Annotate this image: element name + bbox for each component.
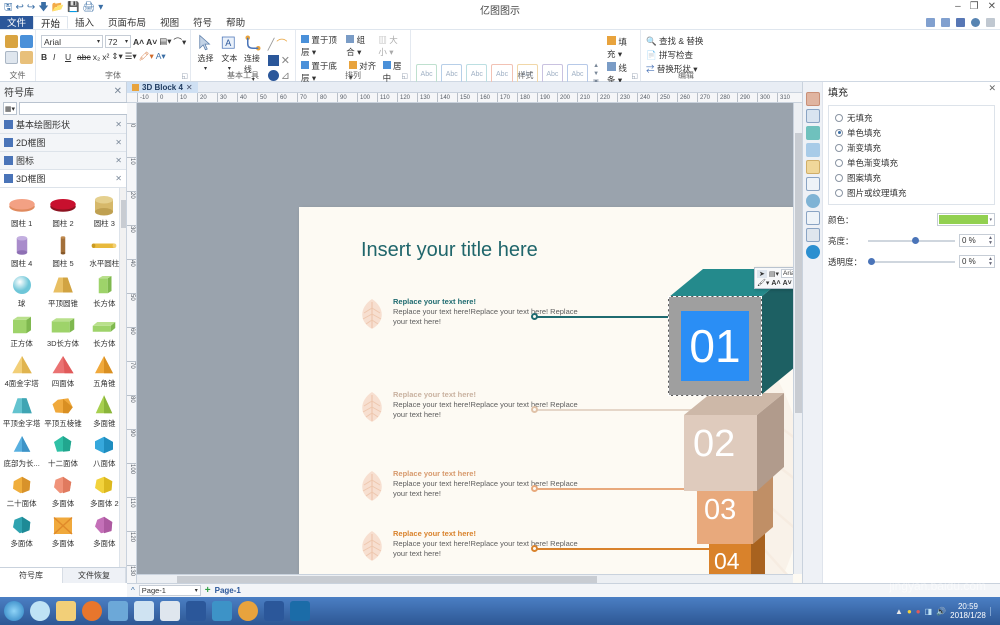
ribbon-group-styles: Abc Abc Abc Abc Abc Abc Abc ▲ ▼ ▣ 填充 ▾ 线… — [411, 30, 641, 81]
slab-green-icon — [89, 313, 119, 337]
list-item[interactable]: Replace your text here! Replace your tex… — [357, 390, 587, 424]
underline-button[interactable]: U — [65, 52, 75, 62]
app-title: 亿图图示 — [0, 2, 1000, 17]
connector-line[interactable] — [534, 409, 709, 411]
styles-dialog-launcher[interactable]: ◱ — [631, 72, 638, 80]
library-bottom-tabs: 符号库 文件恢复 — [0, 567, 126, 583]
explorer-icon[interactable] — [56, 601, 76, 621]
shape-item[interactable]: 球 — [1, 270, 42, 310]
ribbon-group-edit: 🔍 查找 & 替换 📄 拼写检查 ⇄ 替换形状 ▾ 编辑 — [641, 30, 731, 81]
connector-dot[interactable] — [531, 485, 538, 492]
tab-symbol-library[interactable]: 符号库 — [0, 568, 63, 583]
library-search-row: ▦▾ 🔍 — [0, 101, 126, 116]
ruler-tick: 50 — [257, 93, 267, 103]
ruler-tick: 170 — [497, 93, 510, 103]
transparency-row: 透明度： 0 % ▲▼ — [828, 255, 995, 268]
fill-color-swatch[interactable]: ▾ — [937, 213, 995, 226]
shape-item[interactable]: 平顶五棱锥 — [42, 390, 83, 430]
library-category-icons[interactable]: 图标 ✕ — [0, 152, 126, 170]
ruler-tick: 120 — [127, 531, 137, 542]
comment-icon[interactable] — [806, 228, 820, 242]
show-desktop-button[interactable] — [990, 607, 996, 616]
title-bar: 🖫 ↩ ↪ 🡇 📂 💾 🖨 ▾ 亿图图示 – ❐ ✕ — [0, 0, 1000, 16]
ruler-tick: 60 — [277, 93, 287, 103]
page-title[interactable]: Insert your title here — [361, 239, 538, 262]
bold-button[interactable]: B — [41, 52, 51, 62]
library-category-picker[interactable]: ▦▾ — [3, 102, 17, 115]
start-icon[interactable] — [4, 601, 24, 621]
ruler-tick: -10 — [137, 93, 149, 103]
taskbar: ▲ ● ● ◨ 🔊 20:59 2018/1/28 — [0, 597, 1000, 625]
ruler-tick: 30 — [217, 93, 227, 103]
close-button[interactable]: ✕ — [988, 1, 996, 12]
ruler-tick: 130 — [417, 93, 430, 103]
document-tab-bar: 3D Block 4 ✕ — [127, 82, 802, 93]
ruler-tick: 140 — [437, 93, 450, 103]
block-number: 02 — [693, 425, 735, 463]
cylinder-tan-icon — [89, 193, 119, 217]
list-item-heading: Replace your text here! — [393, 297, 587, 307]
shape-item[interactable]: 圆柱 4 — [1, 230, 42, 270]
shape-item[interactable]: 平顶圆锥 — [42, 270, 83, 310]
library-scrollbar[interactable] — [119, 188, 126, 567]
subscript-button[interactable]: x₂ — [93, 52, 101, 62]
volume-icon[interactable]: 🔊 — [936, 607, 946, 616]
document-tab-close-icon[interactable]: ✕ — [186, 83, 193, 92]
tray-icon-1[interactable]: ▲ — [895, 607, 903, 616]
fill-option-group: 无填充 单色填充 渐变填充 单色渐变填充 — [828, 105, 995, 205]
document-tab-label: 3D Block 4 — [142, 83, 183, 92]
theme-icon[interactable] — [806, 194, 820, 208]
ruler-tick: 160 — [477, 93, 490, 103]
tab-page-layout[interactable]: 页面布局 — [101, 16, 153, 29]
find-replace-button[interactable]: 🔍 查找 & 替换 — [646, 35, 703, 47]
page-bar: ^ Page-1▾ + Page-1 — [127, 583, 1000, 597]
category-close-icon[interactable]: ✕ — [115, 120, 122, 129]
fill-option-gradient[interactable]: 渐变填充 — [835, 140, 988, 155]
ruler-tick: 0 — [127, 123, 137, 127]
radio-icon[interactable] — [835, 189, 843, 197]
tab-file-recovery[interactable]: 文件恢复 — [63, 568, 126, 583]
page-tab-current[interactable]: Page-1 — [215, 586, 241, 595]
ruler-tick: 100 — [357, 93, 370, 103]
doc-icon[interactable] — [806, 177, 820, 191]
ruler-tick: 200 — [557, 93, 570, 103]
add-page-button[interactable]: + — [205, 585, 211, 596]
radio-icon[interactable] — [835, 159, 843, 167]
ruler-tick: 180 — [517, 93, 530, 103]
calc-icon[interactable] — [160, 601, 180, 621]
ruler-tick: 110 — [377, 93, 390, 103]
radio-icon[interactable] — [835, 174, 843, 182]
ruler-tick: 230 — [617, 93, 630, 103]
ruler-tick: 40 — [127, 259, 137, 267]
shape-item[interactable]: 多面体 — [1, 510, 42, 550]
italic-button[interactable]: I — [53, 52, 63, 62]
category-icon — [4, 120, 13, 129]
ribbon-group-font: Arial▾ 72▾ A˄ A˅ ▤▾ ⌒▾ B I U abc x₂ x — [36, 30, 191, 81]
spinner-arrows[interactable]: ▲▼ — [988, 257, 994, 267]
poly-yellow-icon — [89, 473, 119, 497]
ruler-tick: 80 — [127, 395, 137, 403]
cone-green-icon — [89, 393, 119, 417]
ruler-tick: 110 — [127, 497, 137, 508]
connector-line[interactable] — [534, 316, 689, 318]
category-icon — [4, 138, 13, 147]
mini-shrink-font-icon[interactable]: A˅ — [783, 280, 792, 287]
fill-option-mono-gradient[interactable]: 单色渐变填充 — [835, 155, 988, 170]
tab-file[interactable]: 文件 — [0, 16, 33, 29]
ruler-tick: 60 — [127, 327, 137, 335]
ruler-tick: 90 — [337, 93, 347, 103]
font-color-icon[interactable]: A▾ — [156, 51, 166, 62]
system-tray[interactable]: ▲ ● ● ◨ 🔊 20:59 2018/1/28 — [895, 602, 996, 620]
spinner-arrows[interactable]: ▲▼ — [988, 236, 994, 246]
rect-shape-icon[interactable] — [268, 55, 279, 66]
group-button[interactable]: 组合 ▾ — [346, 34, 372, 58]
radio-icon[interactable] — [835, 114, 843, 122]
login-icon[interactable] — [956, 18, 965, 27]
settings-icon[interactable] — [971, 18, 980, 27]
library-category-basic[interactable]: 基本绘图形状 ✕ — [0, 116, 126, 134]
layer-icon[interactable] — [806, 160, 820, 174]
block-number: 01 — [681, 311, 749, 381]
arrange-dialog-launcher[interactable]: ◱ — [401, 72, 408, 80]
ruler-tick: 70 — [127, 361, 137, 369]
ruler-tick: 150 — [457, 93, 470, 103]
shape-item[interactable]: 圆柱 1 — [1, 190, 42, 230]
clock-time: 20:59 — [958, 602, 978, 611]
main-area: 符号库 ✕ ▦▾ 🔍 基本绘图形状 ✕ 2D框图 ✕ 图标 ✕ — [0, 82, 1000, 583]
frustum-gold-icon — [48, 273, 78, 297]
shape-item[interactable]: 底部为长... — [1, 430, 42, 470]
leaf-icon — [357, 297, 387, 331]
diagram-page[interactable]: Insert your title here Re — [299, 207, 802, 583]
top-right-icon-group — [926, 16, 1000, 29]
mini-format-painter-icon[interactable]: 🖌▾ — [757, 279, 769, 287]
block-02[interactable]: 02 — [684, 393, 794, 491]
box-green-tall-icon — [89, 273, 119, 297]
ruler-tick: 10 — [127, 157, 137, 165]
connector-dot[interactable] — [531, 313, 538, 320]
font-size-combo[interactable]: 72▾ — [105, 35, 131, 48]
leaf-icon — [357, 390, 387, 424]
spell-check-button[interactable]: 📄 拼写检查 — [646, 49, 693, 61]
align-icon[interactable]: ▤▾ — [769, 270, 779, 278]
tool-text[interactable]: A 文本 ▾ — [220, 34, 239, 72]
ribbon: 文件 Arial▾ 72▾ A˄ A˅ ▤▾ ⌒▾ B — [0, 30, 1000, 82]
fill-panel-icon-column[interactable] — [803, 82, 823, 583]
library-header: 符号库 ✕ — [0, 82, 126, 101]
ie-icon[interactable] — [30, 601, 50, 621]
shape-item[interactable]: 圆柱 2 — [42, 190, 83, 230]
fill-color-label: 颜色： — [828, 214, 864, 226]
category-close-icon[interactable]: ✕ — [115, 156, 122, 165]
format-painter-icon[interactable] — [20, 35, 33, 48]
ruler-tick: 20 — [197, 93, 207, 103]
clock-date: 2018/1/28 — [950, 611, 986, 620]
ribbon-tab-bar: 文件 开始 插入 页面布局 视图 符号 帮助 — [0, 16, 1000, 30]
tab-view[interactable]: 视图 — [153, 16, 186, 29]
text-align-icon[interactable]: ▤▾ — [159, 36, 171, 47]
block-number: 03 — [704, 496, 736, 525]
tetra-red-icon — [48, 353, 78, 377]
tray-icon-3[interactable]: ● — [916, 607, 921, 616]
ellipse-flat-orange-icon — [7, 193, 37, 217]
ruler-tick: 10 — [177, 93, 187, 103]
ruler-tick: 240 — [637, 93, 650, 103]
frustum-teal-icon — [7, 393, 37, 417]
slider-knob[interactable] — [912, 237, 919, 244]
library-category-3d[interactable]: 3D框图 ✕ — [0, 170, 126, 188]
notes-icon[interactable] — [108, 601, 128, 621]
ruler-tick: 300 — [757, 93, 770, 103]
shape-item[interactable]: 二十面体 — [1, 470, 42, 510]
cylinder-brown-icon — [48, 233, 78, 257]
tab-symbol[interactable]: 符号 — [186, 16, 219, 29]
ellipse-flat-red-icon — [48, 193, 78, 217]
brightness-row: 亮度： 0 % ▲▼ — [828, 234, 995, 247]
svg-text:A: A — [226, 38, 232, 48]
list-item-heading: Replace your text here! — [393, 529, 587, 539]
library-search-input[interactable] — [19, 102, 135, 115]
shape-item[interactable]: 4面金字塔 — [1, 350, 42, 390]
ruler-tick: 280 — [717, 93, 730, 103]
tray-icon-2[interactable]: ● — [907, 607, 912, 616]
styles-scroll-up-icon[interactable]: ▲ — [593, 63, 599, 69]
pyramid-blue-icon — [7, 433, 37, 457]
edit-icon[interactable] — [806, 211, 820, 225]
connector-dot[interactable] — [531, 545, 538, 552]
fill-panel-close-icon[interactable]: ✕ — [988, 83, 996, 94]
ruler-tick: 310 — [777, 93, 790, 103]
cross-shape-icon[interactable]: ✕ — [281, 54, 290, 67]
ruler-tick: 220 — [597, 93, 610, 103]
word-icon[interactable] — [264, 601, 284, 621]
ribbon-group-file: 文件 — [0, 30, 36, 81]
list-item-heading: Replace your text here! — [393, 469, 587, 479]
shrink-font-icon[interactable]: A˅ — [146, 37, 157, 47]
list-item[interactable]: Replace your text here! Replace your tex… — [357, 297, 587, 331]
vscroll-thumb[interactable] — [795, 133, 802, 413]
ruler-tick: 250 — [657, 93, 670, 103]
list-icon[interactable]: ☰▾ — [125, 51, 137, 62]
network-icon[interactable] — [941, 18, 950, 27]
ribbon-group-arrange-label: 排列 — [296, 70, 410, 81]
list-item-text: Replace your text here! Replace your tex… — [393, 469, 587, 503]
fill-icon[interactable] — [806, 92, 820, 106]
list-item-heading: Replace your text here! — [393, 390, 587, 400]
page-selector-combo[interactable]: Page-1▾ — [139, 585, 201, 596]
copy-icon[interactable] — [5, 51, 18, 64]
frustum-penta-orange-icon — [48, 393, 78, 417]
pentacone-orange-icon — [89, 353, 119, 377]
ruler-tick: 70 — [297, 93, 307, 103]
cut-icon[interactable] — [5, 35, 18, 48]
symbol-library-panel: 符号库 ✕ ▦▾ 🔍 基本绘图形状 ✕ 2D框图 ✕ 图标 ✕ — [0, 82, 127, 583]
poly-orange-square-icon — [48, 513, 78, 537]
ruler-tick: 130 — [127, 565, 137, 576]
icosa-gold-icon — [7, 473, 37, 497]
shape-item[interactable]: 多面体 — [42, 510, 83, 550]
slider-track — [868, 261, 955, 263]
library-scroll-thumb[interactable] — [121, 200, 126, 228]
radio-icon[interactable] — [835, 144, 843, 152]
document-tab[interactable]: 3D Block 4 ✕ — [127, 82, 198, 93]
fill-option-solid[interactable]: 单色填充 — [835, 125, 988, 140]
tab-help[interactable]: 帮助 — [219, 16, 252, 29]
tool-icon[interactable] — [186, 601, 206, 621]
bring-to-front-button[interactable]: 置于顶层 ▾ — [301, 34, 340, 58]
line-shape-icon[interactable]: ╱ — [268, 38, 275, 51]
cube-green-icon — [7, 313, 37, 337]
canvas-area[interactable]: 3D Block 4 ✕ -10010203040506070809010011… — [127, 82, 802, 583]
fill-option-pattern[interactable]: 图案填充 — [835, 170, 988, 185]
fill-panel-title: 填充 — [828, 84, 995, 99]
pointer-icon[interactable]: ➤ — [757, 270, 767, 278]
shape-item[interactable]: 十二面体 — [42, 430, 83, 470]
ruler-tick: 260 — [677, 93, 690, 103]
font-family-combo[interactable]: Arial▾ — [41, 35, 103, 48]
pointer-icon — [196, 34, 214, 52]
library-close-icon[interactable]: ✕ — [114, 86, 122, 97]
slider-knob[interactable] — [868, 258, 875, 265]
chevron-down-icon[interactable]: ▾ — [988, 217, 993, 223]
share-icon[interactable] — [926, 18, 935, 27]
grow-font-icon[interactable]: A˄ — [133, 37, 144, 47]
shape-item[interactable]: 多面体 — [42, 470, 83, 510]
ribbon-group-styles-label: 样式 — [411, 70, 640, 81]
fill-panel: 填充 ✕ 无填充 单色填充 渐变填充 — [802, 82, 1000, 583]
horizontal-ruler: -100102030405060708090100110120130140150… — [127, 93, 802, 103]
category-close-icon[interactable]: ✕ — [115, 138, 122, 147]
highlight-icon[interactable]: 🖍▾ — [139, 51, 154, 62]
shadow-icon[interactable] — [806, 126, 820, 140]
text-icon: A — [220, 34, 238, 52]
transparency-slider[interactable] — [868, 257, 955, 267]
fill-option-picture-texture[interactable]: 图片或纹理填充 — [835, 185, 988, 200]
font-dialog-launcher[interactable]: ◱ — [181, 72, 188, 80]
canvas-vertical-scrollbar[interactable] — [793, 103, 802, 574]
radio-icon[interactable] — [835, 129, 843, 137]
tab-home[interactable]: 开始 — [33, 16, 68, 29]
shape-item[interactable]: 四面体 — [42, 350, 83, 390]
library-title: 符号库 — [4, 84, 34, 99]
color-preview — [939, 215, 988, 224]
fill-color-row: 颜色： ▾ — [828, 213, 995, 226]
category-icon — [4, 156, 13, 165]
paint-icon[interactable] — [134, 601, 154, 621]
superscript-button[interactable]: x² — [102, 52, 109, 62]
ruler-tick: 0 — [157, 93, 163, 103]
page-collapse-icon[interactable]: ^ — [131, 586, 135, 595]
transparency-label: 透明度： — [828, 256, 864, 268]
ribbon-group-arrange: 置于顶层 ▾ 组合 ▾ ▥ 大小 ▾ 置于底层 ▾ 对齐 ▾ 居中 ➤ 旋转和镜… — [296, 30, 411, 81]
strikethrough-button[interactable]: abc — [77, 52, 91, 62]
line-icon[interactable] — [806, 109, 820, 123]
library-shape-grid[interactable]: 圆柱 1 圆柱 2 圆柱 3 圆柱 4 圆柱 5 — [0, 188, 126, 567]
size-button[interactable]: ▥ 大小 ▾ — [378, 34, 405, 58]
help-icon[interactable] — [806, 245, 820, 259]
library-category-2d[interactable]: 2D框图 ✕ — [0, 134, 126, 152]
foxit-icon[interactable] — [212, 601, 232, 621]
ruler-tick: 270 — [697, 93, 710, 103]
list-item-text: Replace your text here! Replace your tex… — [393, 529, 587, 563]
connector-icon — [244, 34, 262, 52]
tray-icon-4[interactable]: ◨ — [925, 607, 933, 616]
tab-insert[interactable]: 插入 — [68, 16, 101, 29]
document-icon — [132, 84, 139, 91]
line-spacing-icon[interactable]: ⇕▾ — [111, 51, 122, 62]
ribbon-group-file-label: 文件 — [0, 70, 35, 81]
cylinder-purple-icon — [7, 233, 37, 257]
help-icon[interactable] — [986, 18, 995, 27]
minimize-button[interactable]: – — [955, 1, 961, 12]
edraw-window: 🖫 ↩ ↪ 🡇 📂 💾 🖨 ▾ 亿图图示 – ❐ ✕ 文件 开始 插入 页面布局… — [0, 0, 1000, 625]
vertical-ruler: 0102030405060708090100110120130140 — [127, 103, 137, 583]
fill-panel-body: 填充 ✕ 无填充 单色填充 渐变填充 — [823, 82, 1000, 583]
ruler-tick: 90 — [127, 429, 137, 437]
search-icon[interactable] — [238, 601, 258, 621]
category-close-icon[interactable]: ✕ — [115, 174, 122, 183]
canvas-horizontal-scrollbar[interactable] — [137, 574, 793, 583]
list-item[interactable]: Replace your text here! Replace your tex… — [357, 529, 587, 563]
tool-select[interactable]: 选择 ▾ — [196, 34, 215, 72]
shape-item[interactable]: 正方体 — [1, 310, 42, 350]
ribbon-group-basic-tools: 选择 ▾ A 文本 ▾ 连接线 ▾ ╱⌒ ✕ ⊿ — [191, 30, 296, 81]
ruler-tick: 100 — [127, 463, 137, 474]
brightness-slider[interactable] — [868, 236, 955, 246]
brightness-spinner[interactable]: 0 % ▲▼ — [959, 234, 995, 247]
dodeca-teal-icon — [48, 433, 78, 457]
sphere-cyan-icon — [7, 273, 37, 297]
ruler-tick: 80 — [317, 93, 327, 103]
text-curve-icon[interactable]: ⌒▾ — [174, 36, 187, 48]
shape-item[interactable]: 圆柱 5 — [42, 230, 83, 270]
ruler-tick: 120 — [397, 93, 410, 103]
shape-item[interactable]: 平顶金字塔 — [1, 390, 42, 430]
list-item[interactable]: Replace your text here! Replace your tex… — [357, 469, 587, 503]
ruler-tick: 190 — [537, 93, 550, 103]
maximize-button[interactable]: ❐ — [970, 1, 979, 12]
ribbon-group-basic-tools-label: 基本工具 — [191, 70, 295, 81]
shape-item[interactable]: 3D长方体 — [42, 310, 83, 350]
poly-magenta-icon — [89, 513, 119, 537]
ruler-tick: 290 — [737, 93, 750, 103]
window-controls[interactable]: – ❐ ✕ — [955, 1, 996, 12]
arc-shape-icon[interactable]: ⌒ — [276, 36, 287, 52]
transparency-spinner[interactable]: 0 % ▲▼ — [959, 255, 995, 268]
connector-dot[interactable] — [531, 406, 538, 413]
leaf-icon — [357, 529, 387, 563]
octa-blue-icon — [89, 433, 119, 457]
cylinder-horiz-yellow-icon — [89, 233, 119, 257]
box-green-wide-icon — [48, 313, 78, 337]
ruler-tick: 210 — [577, 93, 590, 103]
leaf-icon — [357, 469, 387, 503]
paste-icon[interactable] — [20, 51, 33, 64]
firefox-icon[interactable] — [82, 601, 102, 621]
taskbar-clock[interactable]: 20:59 2018/1/28 — [950, 602, 986, 620]
edraw-icon[interactable] — [290, 601, 310, 621]
hscroll-thumb[interactable] — [177, 576, 597, 583]
gradient-icon[interactable] — [806, 143, 820, 157]
ruler-tick: 50 — [127, 293, 137, 301]
shape-fill-button[interactable]: 填充 ▾ — [607, 36, 635, 60]
mini-grow-font-icon[interactable]: A˄ — [771, 280, 780, 287]
category-icon — [4, 174, 13, 183]
fill-option-none[interactable]: 无填充 — [835, 110, 988, 125]
